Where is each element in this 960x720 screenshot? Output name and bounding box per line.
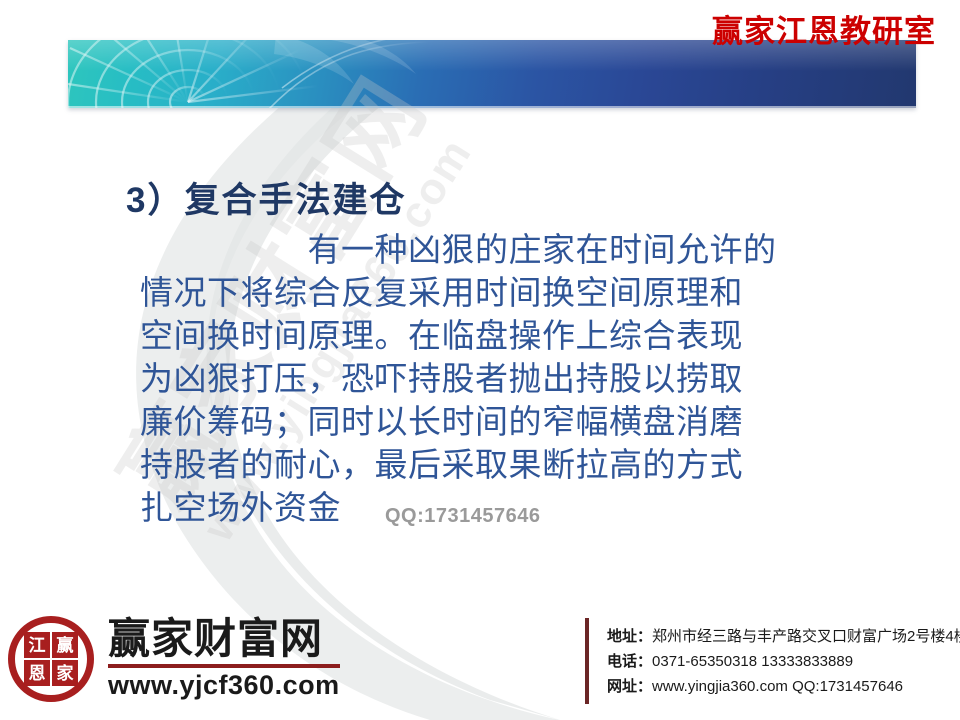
brand-text-block: 赢家财富网 www.yjcf360.com	[108, 617, 340, 701]
contact-address-label: 地址：	[607, 628, 652, 645]
seal-stamp-icon: 江 赢 恩 家	[8, 616, 94, 702]
seal-cell: 赢	[52, 632, 78, 658]
brand-divider	[108, 664, 340, 668]
brand-name: 赢家财富网	[108, 617, 340, 661]
contact-info-block: 地址：郑州市经三路与丰产路交叉口财富广场2号楼4楼C户 电话：0371-6535…	[585, 618, 960, 704]
slide-canvas: 赢家江恩教研室	[0, 0, 960, 720]
body-line: 情况下将综合反复采用时间换空间原理和	[140, 271, 870, 314]
contact-website-label: 网址：	[607, 678, 652, 695]
brand-logo[interactable]: 江 赢 恩 家 赢家财富网 www.yjcf360.com	[8, 616, 340, 702]
page-title: 3）复合手法建仓	[126, 172, 406, 223]
body-paragraph: 有一种凶狠的庄家在时间允许的 情况下将综合反复采用时间换空间原理和 空间换时间原…	[140, 228, 870, 529]
body-line: 廉价筹码；同时以长时间的窄幅横盘消磨	[140, 400, 870, 443]
contact-phone-label: 电话：	[607, 653, 652, 670]
seal-cell: 家	[52, 660, 78, 686]
body-line: 空间换时间原理。在临盘操作上综合表现	[140, 314, 870, 357]
contact-address-value: 郑州市经三路与丰产路交叉口财富广场2号楼4楼C户	[652, 628, 960, 645]
brand-website[interactable]: www.yjcf360.com	[108, 670, 340, 701]
contact-phone-value: 0371-65350318 13333833889	[652, 653, 853, 670]
qq-note: QQ:1731457646	[385, 505, 541, 528]
header-org-title: 赢家江恩教研室	[712, 6, 936, 51]
contact-website: 网址：www.yingjia360.com QQ:1731457646	[607, 674, 960, 699]
contact-address: 地址：郑州市经三路与丰产路交叉口财富广场2号楼4楼C户	[607, 624, 960, 649]
seal-cell: 江	[24, 632, 50, 658]
contact-website-value[interactable]: www.yingjia360.com QQ:1731457646	[652, 678, 903, 695]
footer: 江 赢 恩 家 赢家财富网 www.yjcf360.com 地址：郑州市经三路与…	[0, 608, 960, 720]
body-line: 为凶狠打压，恐吓持股者抛出持股以捞取	[140, 357, 870, 400]
seal-character-grid: 江 赢 恩 家	[24, 632, 78, 686]
body-line: 持股者的耐心，最后采取果断拉高的方式	[140, 443, 870, 486]
body-line: 有一种凶狠的庄家在时间允许的	[140, 228, 870, 271]
contact-phone: 电话：0371-65350318 13333833889	[607, 649, 960, 674]
seal-cell: 恩	[24, 660, 50, 686]
